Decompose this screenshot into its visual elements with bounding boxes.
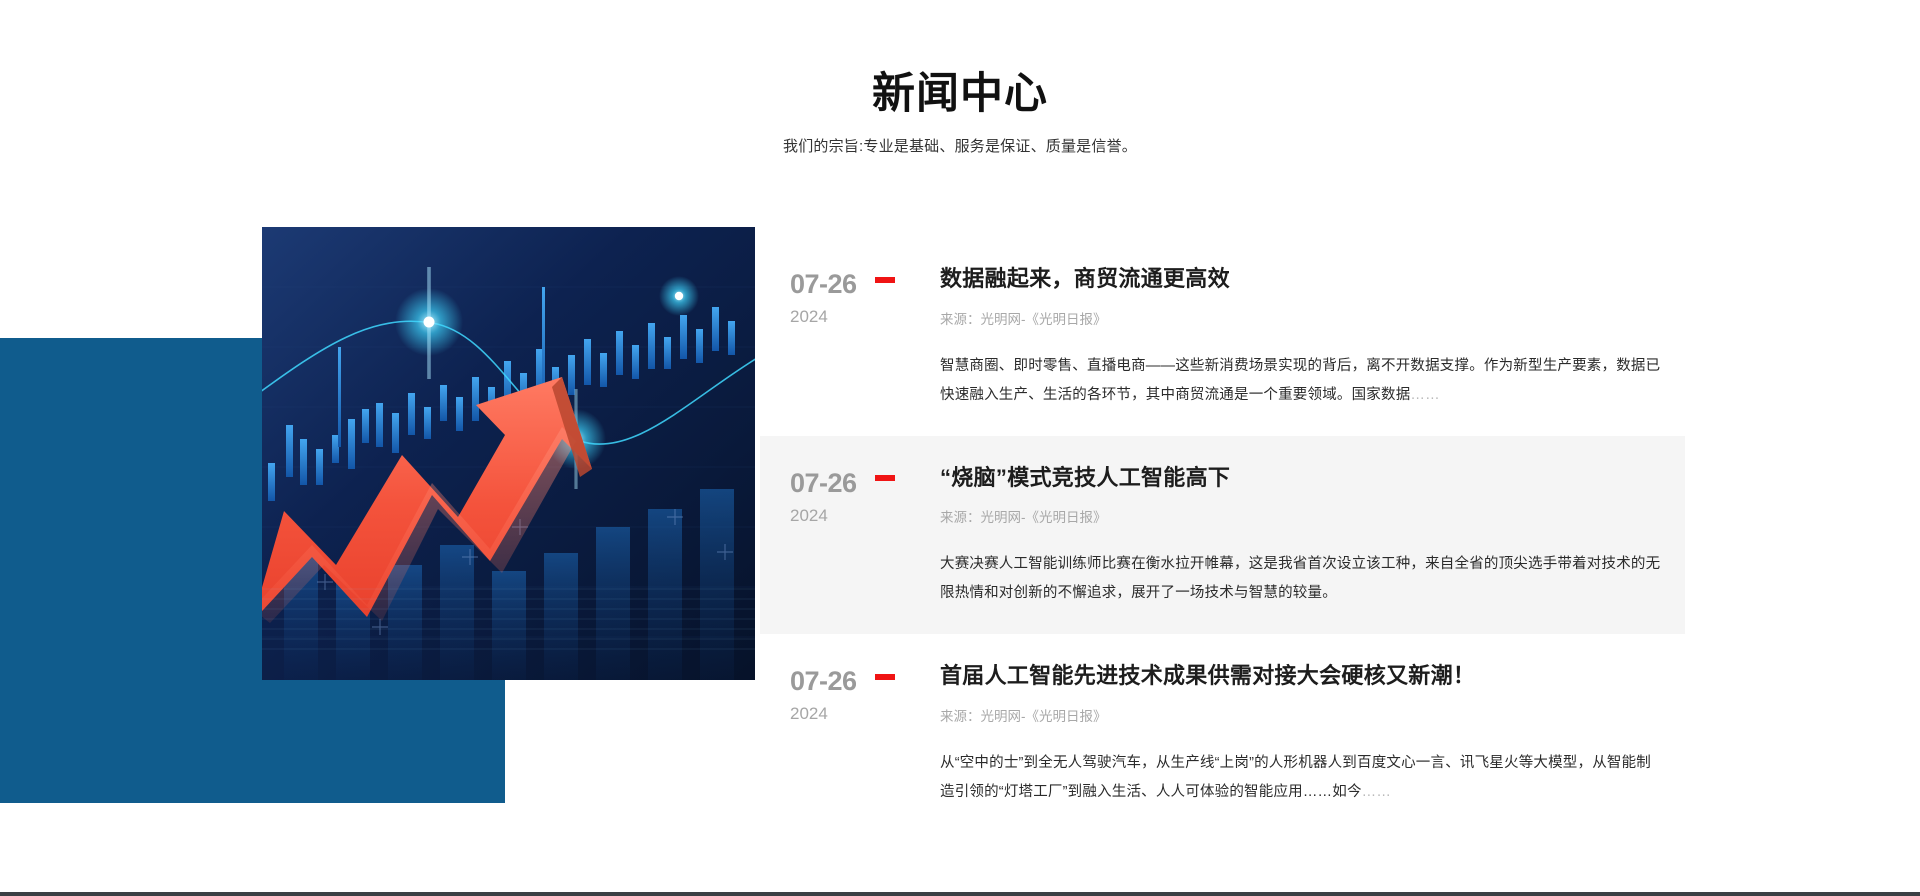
finance-chart-illustration bbox=[262, 227, 755, 680]
news-item[interactable]: 07-26 2024 数据融起来，商贸流通更高效 来源：光明网-《光明日报》 智… bbox=[760, 237, 1685, 436]
news-text-block: 首届人工智能先进技术成果供需对接大会硬核又新潮！ 来源：光明网-《光明日报》 从… bbox=[940, 658, 1663, 807]
date-dash-icon bbox=[875, 277, 895, 283]
news-list: 07-26 2024 数据融起来，商贸流通更高效 来源：光明网-《光明日报》 智… bbox=[760, 237, 1685, 833]
news-text-block: “烧脑”模式竞技人工智能高下 来源：光明网-《光明日报》 大赛决赛人工智能训练师… bbox=[940, 460, 1663, 609]
news-excerpt: 智慧商圈、即时零售、直播电商——这些新消费场景实现的背后，离不开数据支撑。作为新… bbox=[940, 352, 1663, 410]
news-center-page: 新闻中心 我们的宗旨:专业是基础、服务是保证、质量是信誉。 bbox=[0, 0, 1920, 896]
date-dash-icon bbox=[875, 674, 895, 680]
news-source: 来源：光明网-《光明日报》 bbox=[940, 308, 1663, 328]
news-date: 07-26 bbox=[790, 470, 857, 497]
page-title: 新闻中心 bbox=[0, 70, 1920, 119]
news-excerpt-ellipsis: …… bbox=[1410, 387, 1439, 403]
news-excerpt: 从“空中的士”到全无人驾驶汽车，从生产线“上岗”的人形机器人到百度文心一言、讯飞… bbox=[940, 749, 1663, 807]
news-date: 07-26 bbox=[790, 668, 857, 695]
page-bottom-rule bbox=[0, 892, 1920, 896]
news-text-block: 数据融起来，商贸流通更高效 来源：光明网-《光明日报》 智慧商圈、即时零售、直播… bbox=[940, 261, 1663, 410]
news-title[interactable]: 数据融起来，商贸流通更高效 bbox=[940, 265, 1663, 294]
news-date-block: 07-26 2024 bbox=[790, 261, 940, 325]
news-source: 来源：光明网-《光明日报》 bbox=[940, 705, 1663, 725]
hero-image bbox=[262, 227, 755, 680]
news-item[interactable]: 07-26 2024 “烧脑”模式竞技人工智能高下 来源：光明网-《光明日报》 … bbox=[760, 436, 1685, 635]
news-date: 07-26 bbox=[790, 271, 857, 298]
page-subtitle: 我们的宗旨:专业是基础、服务是保证、质量是信誉。 bbox=[0, 135, 1920, 156]
date-dash-icon bbox=[875, 475, 895, 481]
news-title[interactable]: 首届人工智能先进技术成果供需对接大会硬核又新潮！ bbox=[940, 662, 1663, 691]
news-excerpt-text: 从“空中的士”到全无人驾驶汽车，从生产线“上岗”的人形机器人到百度文心一言、讯飞… bbox=[940, 755, 1651, 800]
news-date-block: 07-26 2024 bbox=[790, 658, 940, 722]
news-excerpt-text: 智慧商圈、即时零售、直播电商——这些新消费场景实现的背后，离不开数据支撑。作为新… bbox=[940, 358, 1660, 403]
news-excerpt: 大赛决赛人工智能训练师比赛在衡水拉开帷幕，这是我省首次设立该工种，来自全省的顶尖… bbox=[940, 550, 1663, 608]
page-header: 新闻中心 我们的宗旨:专业是基础、服务是保证、质量是信誉。 bbox=[0, 0, 1920, 156]
news-title[interactable]: “烧脑”模式竞技人工智能高下 bbox=[940, 464, 1663, 493]
news-excerpt-ellipsis: …… bbox=[1362, 784, 1391, 800]
news-item[interactable]: 07-26 2024 首届人工智能先进技术成果供需对接大会硬核又新潮！ 来源：光… bbox=[760, 634, 1685, 833]
news-year: 2024 bbox=[790, 507, 940, 524]
news-excerpt-text: 大赛决赛人工智能训练师比赛在衡水拉开帷幕，这是我省首次设立该工种，来自全省的顶尖… bbox=[940, 556, 1660, 601]
news-source: 来源：光明网-《光明日报》 bbox=[940, 506, 1663, 526]
news-year: 2024 bbox=[790, 308, 940, 325]
news-year: 2024 bbox=[790, 705, 940, 722]
glow-node bbox=[659, 276, 699, 316]
news-date-block: 07-26 2024 bbox=[790, 460, 940, 524]
